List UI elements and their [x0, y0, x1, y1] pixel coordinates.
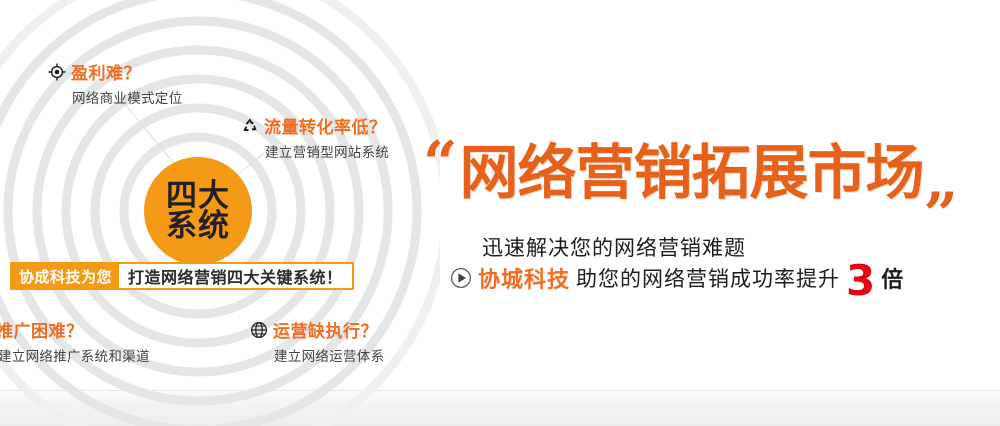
- crosshair-target-icon: [48, 63, 66, 81]
- strap-brand: 协成科技为您: [12, 264, 119, 288]
- callout-operation-head: 运营缺执行？: [250, 317, 384, 342]
- core-label-line1: 四大: [166, 181, 230, 211]
- headline: “ 网络营销拓展市场 „: [423, 143, 959, 203]
- callout-operation-sub: 建立网络运营体系: [274, 345, 384, 365]
- strap-message: 打造网络营销四大关键系统！: [119, 264, 352, 288]
- callout-profit-sub: 网络商业模式定位: [72, 87, 182, 107]
- callout-conversion[interactable]: 流量转化率低？ 建立营销型网站系统: [241, 113, 389, 161]
- subhead-multiplier: 3: [846, 265, 875, 297]
- callout-conversion-sub: 建立营销型网站系统: [265, 141, 389, 161]
- marketing-banner: 四大 系统 盈利难？ 网络商业模式定位: [0, 0, 1000, 426]
- subhead-line-1: 迅速解决您的网络营销难题: [482, 232, 746, 262]
- quote-close-icon: „: [925, 160, 960, 203]
- recycle-icon: [241, 117, 259, 135]
- right-copy-block: “ 网络营销拓展市场 „ 迅速解决您的网络营销难题 协城科技 助您的网络营销成功…: [420, 0, 1000, 426]
- subhead-brand: 协城科技: [478, 262, 570, 294]
- callout-conversion-head: 流量转化率低？: [241, 113, 389, 138]
- callout-profit-title: 盈利难？: [71, 59, 141, 84]
- subhead-middle: 助您的网络营销成功率提升: [576, 263, 840, 293]
- core-label-line2: 系统: [166, 211, 230, 241]
- play-circle-icon: [450, 267, 472, 289]
- callout-promotion[interactable]: 推广困难？ 建立网络推广系统和渠道: [0, 317, 150, 365]
- callout-profit[interactable]: 盈利难？ 网络商业模式定位: [48, 59, 182, 107]
- callout-promotion-head: 推广困难？: [0, 317, 150, 342]
- subhead-multiplier-unit: 倍: [881, 262, 903, 294]
- callout-promotion-sub: 建立网络推广系统和渠道: [0, 345, 150, 365]
- subhead-line-2: 协城科技 助您的网络营销成功率提升 3 倍: [450, 262, 903, 294]
- callout-promotion-title: 推广困难？: [0, 317, 84, 342]
- callout-profit-head: 盈利难？: [48, 59, 182, 84]
- globe-icon: [250, 321, 268, 339]
- strap-banner: 协成科技为您 打造网络营销四大关键系统！: [10, 262, 354, 290]
- core-circle: 四大 系统: [144, 157, 252, 265]
- core-label: 四大 系统: [166, 181, 230, 241]
- quote-open-icon: “: [423, 143, 458, 186]
- callout-operation-title: 运营缺执行？: [273, 317, 378, 342]
- headline-text: 网络营销拓展市场: [460, 143, 924, 203]
- callout-operation[interactable]: 运营缺执行？ 建立网络运营体系: [250, 317, 384, 365]
- callout-conversion-title: 流量转化率低？: [264, 113, 387, 138]
